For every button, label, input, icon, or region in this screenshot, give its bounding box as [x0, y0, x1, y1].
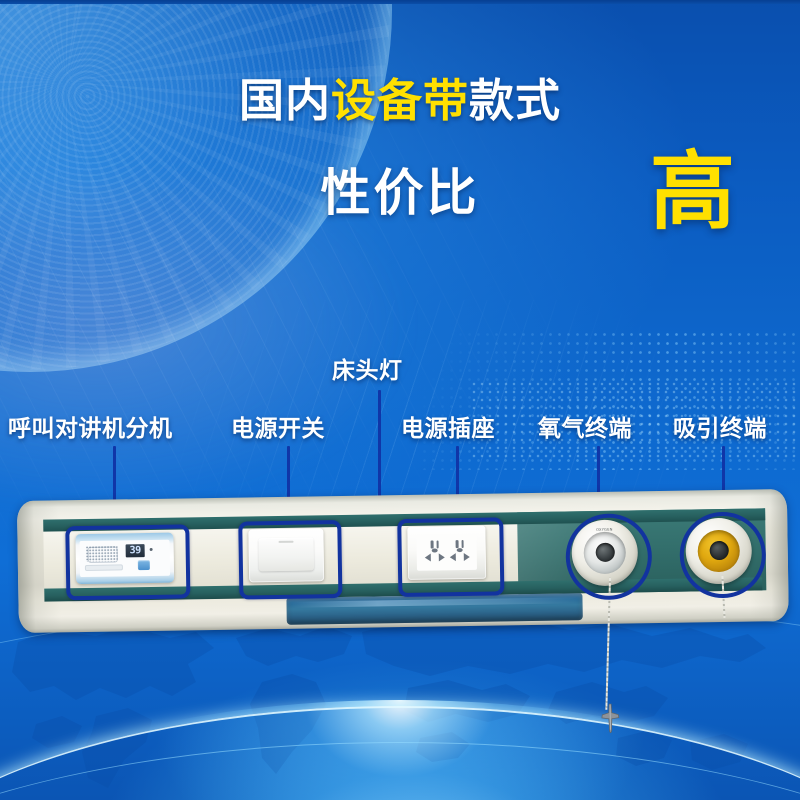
medical-bed-head-unit: 39 [17, 489, 789, 651]
highlight-box-power-switch [238, 520, 342, 600]
callout-power-socket: 电源插座 [401, 418, 495, 441]
callout-oxygen-terminal: 氧气终端 [538, 418, 632, 441]
callout-suction-terminal: 吸引终端 [673, 418, 767, 441]
callout-intercom: 呼叫对讲机分机 [8, 418, 173, 441]
headline-part1: 国内 [239, 74, 331, 127]
callout-power-switch: 电源开关 [231, 418, 325, 441]
promo-banner: 国内设备带款式 性价比 高 呼叫对讲机分机 电源开关 床头灯 电源插座 氧气终端… [0, 0, 800, 800]
pull-cord-handle[interactable] [598, 704, 623, 738]
headline-part2: 设备带 [331, 74, 469, 127]
callout-bed-lamp: 床头灯 [332, 360, 403, 383]
emphasis-character: 高 [650, 150, 735, 235]
headline-part3: 款式 [469, 74, 561, 127]
top-edge-bar [0, 0, 800, 4]
highlight-box-power-socket [397, 517, 504, 597]
highlight-box-intercom [65, 524, 190, 600]
headline: 国内设备带款式 [0, 78, 800, 123]
